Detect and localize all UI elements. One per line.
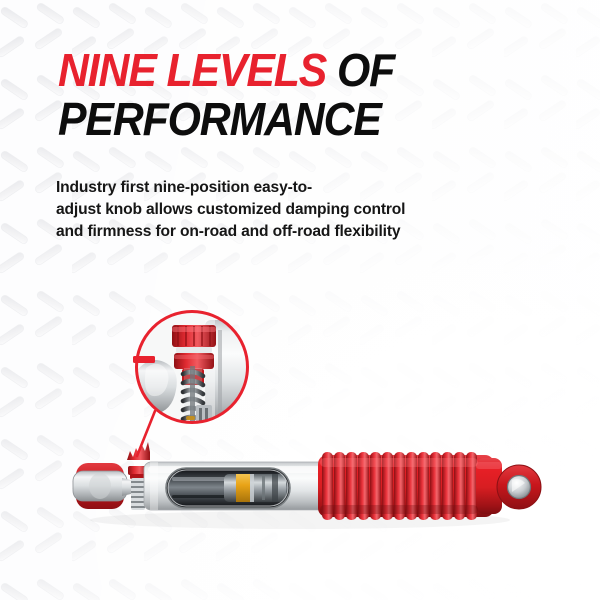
slide-canvas: NINE LEVELS OF PERFORMANCE Industry firs… xyxy=(0,0,600,600)
right-eyelet xyxy=(497,465,541,509)
page-title: NINE LEVELS OF PERFORMANCE xyxy=(58,49,419,141)
body-copy-line-2: adjust knob allows customized damping co… xyxy=(56,199,405,221)
headline-line1-red: NINE LEVELS xyxy=(58,44,326,96)
headline-line1-black: OF xyxy=(326,44,394,96)
cutaway-window xyxy=(166,468,290,508)
body-copy: Industry first nine-position easy-to- ad… xyxy=(56,177,405,242)
magnified-detail-circle xyxy=(132,312,285,427)
piston-band xyxy=(236,474,250,502)
shock-absorber-main xyxy=(73,442,541,529)
knob-stem xyxy=(131,478,145,510)
callout-tab-marker xyxy=(133,356,155,363)
body-copy-line-3: and firmness for on-road and off-road fl… xyxy=(56,221,405,243)
bellows-boot xyxy=(318,452,502,520)
headline-line2: PERFORMANCE xyxy=(58,98,394,141)
body-copy-line-1: Industry first nine-position easy-to- xyxy=(56,177,405,199)
